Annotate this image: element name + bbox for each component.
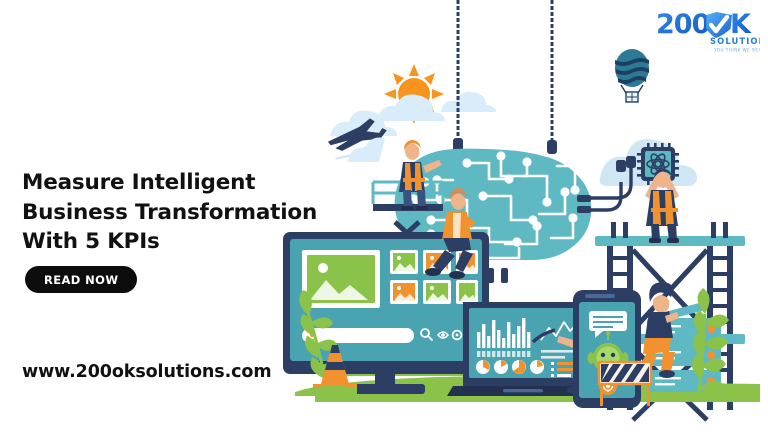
cloud-icon: [375, 94, 445, 121]
website-url[interactable]: www.200oksolutions.com: [22, 362, 271, 382]
hanging-cable: [547, 0, 557, 154]
ground: [295, 386, 357, 396]
cloud-icon: [439, 92, 496, 112]
hot-air-balloon-icon: [615, 49, 649, 102]
hero-illustration: [255, 0, 768, 432]
smartphone-chatbot: [573, 290, 641, 408]
hanging-cable: [453, 0, 463, 152]
read-now-button-label: READ NOW: [44, 273, 118, 287]
read-now-button[interactable]: READ NOW: [25, 266, 137, 293]
marketing-banner: Measure Intelligent Business Transformat…: [0, 0, 768, 432]
